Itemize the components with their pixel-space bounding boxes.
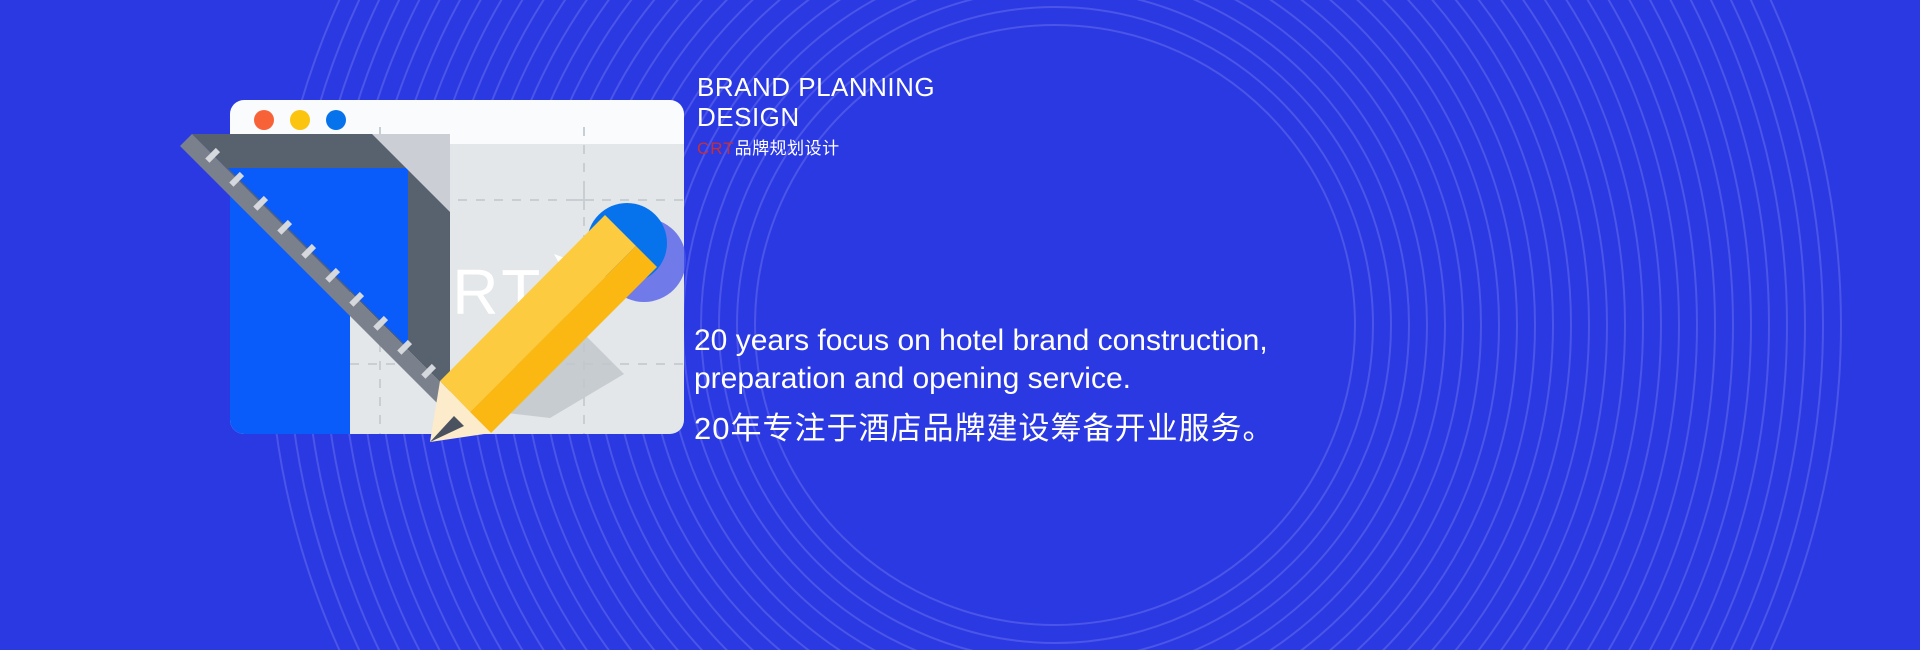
brand-mark: CRT [697, 139, 735, 158]
minimize-dot [290, 110, 310, 130]
tagline-english: 20 years focus on hotel brand constructi… [694, 322, 1394, 398]
brand-banner: CRT [0, 0, 1920, 650]
maximize-dot [326, 110, 346, 130]
subtitle-text: 品牌规划设计 [735, 139, 840, 158]
subtitle: CRT品牌规划设计 [697, 138, 1257, 160]
tagline-block: 20 years focus on hotel brand constructi… [694, 322, 1394, 448]
close-dot [254, 110, 274, 130]
brand-design-illustration: CRT [232, 82, 682, 452]
headline-block: BRAND PLANNING DESIGN CRT品牌规划设计 [697, 72, 1257, 160]
tagline-chinese: 20年专注于酒店品牌建设筹备开业服务。 [694, 410, 1394, 448]
page-title: BRAND PLANNING DESIGN [697, 72, 1257, 132]
